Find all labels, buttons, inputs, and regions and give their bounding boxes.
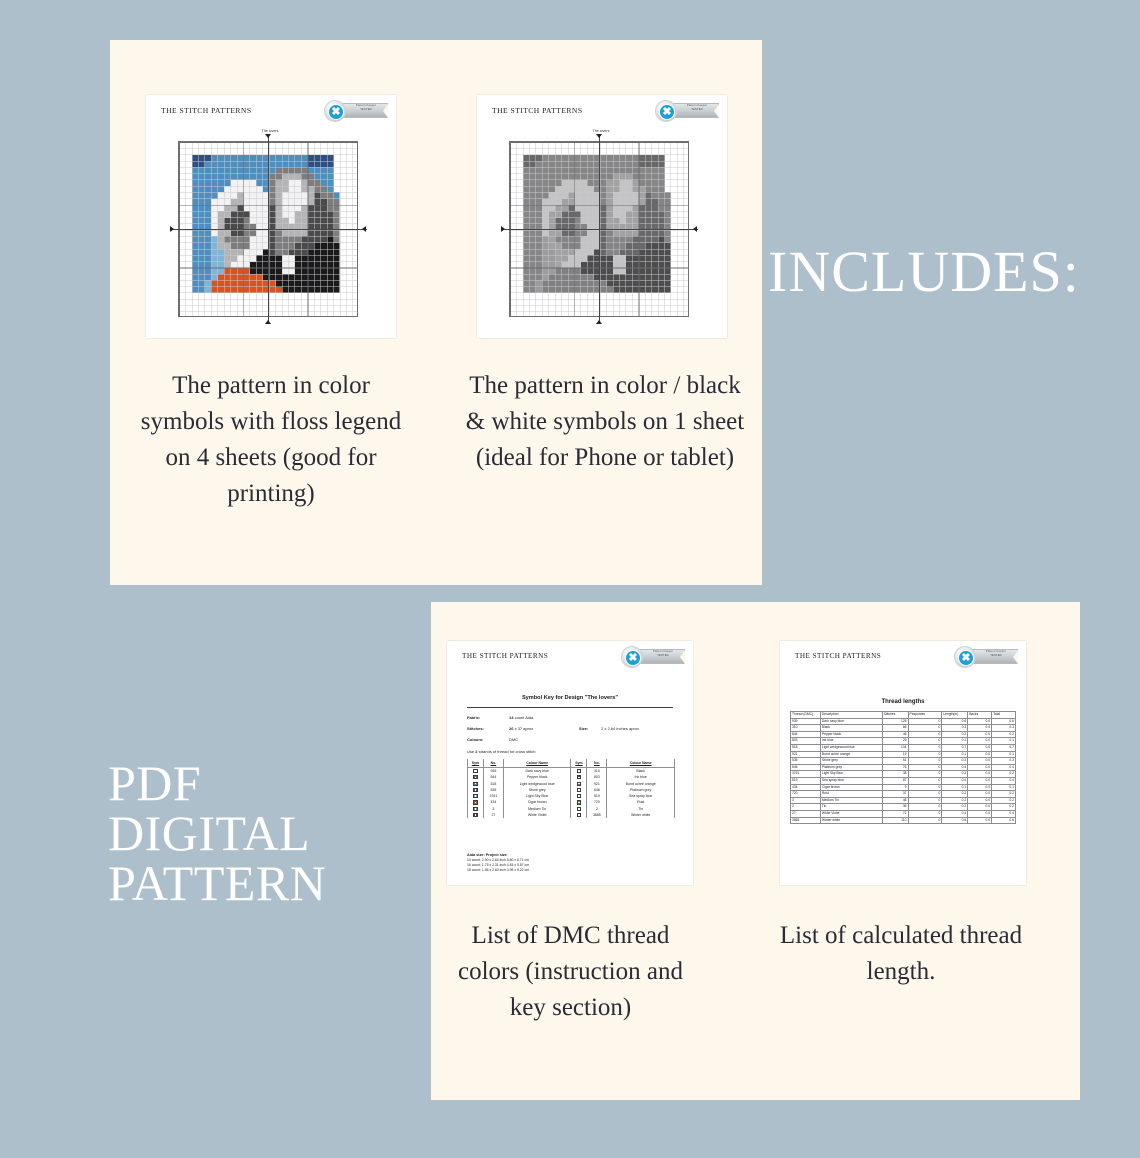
- thread-col-header: Thread (DMC): [791, 712, 821, 719]
- cross-stitch-icon: ✖: [958, 650, 974, 666]
- thread-cell: Burnt ochre orange: [820, 751, 882, 758]
- thread-header-row: Thread (DMC)DescriptionStitchesPespuntes…: [791, 712, 1016, 719]
- spec-row: Stitches:26 x 37 aproxSize:2 x 2.64 inch…: [467, 726, 677, 737]
- thread-cell: 0.0: [968, 791, 992, 798]
- legend-symbol-swatch: [571, 768, 587, 775]
- legend-cell: 310: [587, 768, 607, 775]
- center-line-vertical: [599, 136, 600, 324]
- thread-cell: 0.6: [942, 817, 968, 824]
- thread-cell: 0.0: [968, 738, 992, 745]
- headline-pdf-digital-pattern: PDF DIGITAL PATTERN: [108, 758, 326, 908]
- chart-bw[interactable]: The lovers: [501, 137, 701, 322]
- thread-cell: 76: [882, 764, 908, 771]
- legend-cell: White Violet: [503, 812, 571, 818]
- badge-seal: ✖: [655, 100, 677, 122]
- thread-cell: 0: [908, 725, 942, 732]
- thread-cell: 0.0: [968, 744, 992, 751]
- legend-symbol-swatch: [468, 768, 484, 775]
- sheet-header: THE STITCH PATTERNS Pattern Keeper TESTE…: [146, 95, 396, 127]
- aida-size-lines: 14 count: 2.00 x 2.64 inch 5.80 x 6.71 c…: [467, 858, 529, 873]
- thread-col-header: Length(m): [942, 712, 968, 719]
- sheet-header: THE STITCH PATTERNS Pattern Keeper TESTE…: [477, 95, 727, 127]
- thread-cell: 0: [908, 731, 942, 738]
- thread-cell: 0: [908, 817, 942, 824]
- thread-cell: 0: [908, 797, 942, 804]
- legend-row: 27White Violet3865Winter white: [468, 812, 675, 818]
- symbol-key-sheet[interactable]: THE STITCH PATTERNS Pattern Keeper TESTE…: [447, 641, 693, 885]
- thread-cell: 3865: [791, 817, 821, 824]
- thread-cell: 0.2: [992, 804, 1016, 811]
- spec-row: Colours:DMC: [467, 737, 677, 748]
- thread-row: 310Black6600.30.00.3: [791, 725, 1016, 732]
- thread-cell: 0.3: [992, 758, 1016, 765]
- spec-value: 14 count Aida: [509, 715, 533, 720]
- thread-cell: 720: [791, 791, 821, 798]
- chart-title: The lovers: [170, 129, 370, 133]
- sheet-title: THE STITCH PATTERNS: [795, 652, 881, 660]
- legend-symbol-swatch: [468, 812, 484, 818]
- thread-cell: 2: [791, 804, 821, 811]
- thread-cell: Light Sky Blue: [820, 771, 882, 778]
- thread-row: 518Light wedgewood blue13100.70.00.7: [791, 744, 1016, 751]
- thread-cell: 0: [908, 791, 942, 798]
- headline-pdf-line1: PDF: [108, 758, 326, 808]
- chart-color[interactable]: The lovers: [170, 137, 370, 322]
- pattern-sheet-bw[interactable]: THE STITCH PATTERNS Pattern Keeper TESTE…: [477, 95, 727, 338]
- thread-cell: 0: [908, 718, 942, 725]
- thread-row: 27White Violet7200.40.00.4: [791, 810, 1016, 817]
- badge-seal: ✖: [621, 646, 643, 668]
- caption-dmc-list: List of DMC thread colors (instruction a…: [448, 918, 693, 1026]
- thread-cell: 0.1: [942, 784, 968, 791]
- thread-cell: 9: [882, 784, 908, 791]
- thread-lengths-sheet[interactable]: THE STITCH PATTERNS Pattern Keeper TESTE…: [780, 641, 1026, 885]
- thread-cell: 0.4: [942, 810, 968, 817]
- thread-cell: Stone grey: [820, 758, 882, 765]
- spec-label: Colours:: [467, 737, 483, 742]
- legend-body: 939Dark navy blue310Black844Pepper black…: [468, 768, 675, 819]
- thread-cell: 0.1: [992, 738, 1016, 745]
- thread-cell: 921: [791, 751, 821, 758]
- badge-ribbon-text: Pattern Keeper TESTED: [346, 104, 386, 112]
- badge-ribbon-text: Pattern Keeper TESTED: [976, 650, 1016, 658]
- thread-cell: 87: [882, 777, 908, 784]
- thread-cell: 0.4: [942, 777, 968, 784]
- thread-cell: 0.2: [942, 771, 968, 778]
- thread-cell: 0: [908, 804, 942, 811]
- badge-ribbon-line2: TESTED: [976, 654, 1016, 658]
- thread-row: 3865Winter white11000.60.00.6: [791, 817, 1016, 824]
- thread-cell: 0: [908, 764, 942, 771]
- thread-lengths-table: Thread (DMC)DescriptionStitchesPespuntes…: [790, 711, 1016, 824]
- thread-cell: 66: [882, 725, 908, 732]
- cross-stitch-icon: ✖: [659, 104, 675, 120]
- thread-cell: 310: [791, 725, 821, 732]
- thread-cell: 3: [791, 797, 821, 804]
- thread-cell: Tin: [820, 804, 882, 811]
- headline-pdf-line2: DIGITAL: [108, 808, 326, 858]
- badge-seal: ✖: [954, 646, 976, 668]
- center-marker-top-icon: [265, 134, 271, 138]
- thread-cell: 0.1: [992, 784, 1016, 791]
- thread-cell: 36: [882, 804, 908, 811]
- divider: [467, 707, 673, 708]
- thread-col-header: Total: [992, 712, 1016, 719]
- thread-cell: 0.0: [968, 817, 992, 824]
- thread-cell: 519: [791, 777, 821, 784]
- thread-cell: 0.0: [968, 771, 992, 778]
- thread-cell: 110: [882, 817, 908, 824]
- legend-head: SymNo.Colour NameSymNo.Colour Name: [468, 759, 675, 768]
- badge-ribbon-text: Pattern Keeper TESTED: [677, 104, 717, 112]
- thread-cell: 0.0: [968, 758, 992, 765]
- legend-cell: Winter white: [607, 812, 675, 818]
- thread-cell: 0.1: [942, 751, 968, 758]
- thread-cell: 0.1: [992, 751, 1016, 758]
- floss-legend-table: SymNo.Colour NameSymNo.Colour Name 939Da…: [467, 759, 675, 818]
- thread-cell: 27: [791, 810, 821, 817]
- thread-cell: 0.3: [942, 758, 968, 765]
- thread-cell: 48: [882, 797, 908, 804]
- thread-cell: 51: [882, 758, 908, 765]
- legend-row: 939Dark navy blue310Black: [468, 768, 675, 775]
- pattern-keeper-badge: Pattern Keeper TESTED ✖: [621, 646, 685, 668]
- sheet-title: THE STITCH PATTERNS: [492, 106, 583, 115]
- thread-cell: 0.2: [992, 731, 1016, 738]
- thread-row: 535Stone grey5100.30.00.3: [791, 758, 1016, 765]
- symbol-key-title: Symbol Key for Design "The lovers": [447, 695, 693, 701]
- legend-col-header: No.: [587, 759, 607, 768]
- legend-cell: 27: [483, 812, 503, 818]
- chart-grid: [509, 141, 689, 317]
- center-marker-bottom-icon: [596, 320, 602, 324]
- thread-cell: 0.7: [942, 744, 968, 751]
- spec-value: 26 x 37 aprox: [509, 726, 533, 731]
- spec-label-2: Size:: [579, 726, 588, 731]
- thread-cell: 0.1: [942, 738, 968, 745]
- thread-cell: 646: [791, 764, 821, 771]
- center-marker-left-icon: [170, 226, 174, 232]
- thread-cell: 72: [882, 810, 908, 817]
- thread-cell: 0.2: [942, 804, 968, 811]
- pattern-keeper-badge: Pattern Keeper TESTED ✖: [655, 100, 719, 122]
- thread-cell: 0.2: [942, 731, 968, 738]
- badge-ribbon-text: Pattern Keeper TESTED: [643, 650, 683, 658]
- thread-cell: 0.0: [968, 731, 992, 738]
- thread-cell: 434: [791, 784, 821, 791]
- thread-cell: Dark navy blue: [820, 718, 882, 725]
- spec-row: Fabric:14 count Aida: [467, 715, 677, 726]
- legend-col-header: No.: [483, 759, 503, 768]
- thread-cell: 0.2: [992, 771, 1016, 778]
- caption-color-pattern: The pattern in color symbols with floss …: [136, 368, 406, 512]
- badge-seal: ✖: [324, 100, 346, 122]
- thread-row: 519Sea spray blue8700.40.00.4: [791, 777, 1016, 784]
- thread-col-header: Pespuntes: [908, 712, 942, 719]
- thread-cell: 0.3: [942, 725, 968, 732]
- spec-label: Stitches:: [467, 726, 484, 731]
- cross-stitch-icon: ✖: [328, 104, 344, 120]
- thread-cell: 0.2: [942, 797, 968, 804]
- thread-row: 2Tin3600.20.00.2: [791, 804, 1016, 811]
- center-marker-bottom-icon: [265, 320, 271, 324]
- legend-cell: 3865: [587, 812, 607, 818]
- legend-cell: Dark navy blue: [503, 768, 571, 775]
- strands-note-pre: Use: [467, 749, 475, 754]
- thread-cell: 125: [882, 718, 908, 725]
- thread-cell: 0: [908, 744, 942, 751]
- pattern-sheet-color[interactable]: THE STITCH PATTERNS Pattern Keeper TESTE…: [146, 95, 396, 338]
- sheet-header: THE STITCH PATTERNS Pattern Keeper TESTE…: [780, 641, 1026, 673]
- badge-ribbon-line2: TESTED: [643, 654, 683, 658]
- thread-row: 921Burnt ochre orange1900.10.00.1: [791, 751, 1016, 758]
- thread-cell: Medium Tin: [820, 797, 882, 804]
- chart-title: The lovers: [501, 129, 701, 133]
- thread-cell: Ink blue: [820, 738, 882, 745]
- center-marker-top-icon: [596, 134, 602, 138]
- thread-cell: Black: [820, 725, 882, 732]
- legend-cell: Black: [607, 768, 675, 775]
- thread-cell: 0.6: [942, 718, 968, 725]
- thread-cell: Winter white: [820, 817, 882, 824]
- thread-cell: 535: [791, 758, 821, 765]
- thread-cell: 0.0: [968, 725, 992, 732]
- strands-note: Use 2 strands of thread for cross stitch: [467, 749, 536, 754]
- thread-table-head: Thread (DMC)DescriptionStitchesPespuntes…: [791, 712, 1016, 719]
- center-line-vertical: [268, 136, 269, 324]
- pattern-keeper-badge: Pattern Keeper TESTED ✖: [324, 100, 388, 122]
- thread-row: 720Rust3700.20.00.2: [791, 791, 1016, 798]
- thread-cell: Sea spray blue: [820, 777, 882, 784]
- badge-ribbon-line2: TESTED: [677, 108, 717, 112]
- thread-cell: 0: [908, 810, 942, 817]
- thread-cell: 0: [908, 771, 942, 778]
- thread-cell: 0.0: [968, 751, 992, 758]
- thread-cell: 0.2: [992, 791, 1016, 798]
- thread-row: 844Pepper black4600.20.00.2: [791, 731, 1016, 738]
- spec-value-2: 2 x 2.64 inches aprox: [601, 726, 639, 731]
- thread-row: 3Medium Tin4800.20.00.2: [791, 797, 1016, 804]
- thread-cell: 3761: [791, 771, 821, 778]
- thread-cell: Pepper black: [820, 731, 882, 738]
- legend-col-header: Sym: [571, 759, 587, 768]
- thread-cell: 0: [908, 784, 942, 791]
- thread-table-body: 939Dark navy blue12500.60.00.6310Black66…: [791, 718, 1016, 824]
- pattern-keeper-badge: Pattern Keeper TESTED ✖: [954, 646, 1018, 668]
- sheet-header: THE STITCH PATTERNS Pattern Keeper TESTE…: [447, 641, 693, 673]
- center-marker-left-icon: [501, 226, 505, 232]
- cross-stitch-icon: ✖: [625, 650, 641, 666]
- thread-cell: 803: [791, 738, 821, 745]
- thread-cell: 0.4: [992, 777, 1016, 784]
- headline-pdf-line3: PATTERN: [108, 858, 326, 908]
- thread-row: 803Ink blue2900.10.00.1: [791, 738, 1016, 745]
- thread-cell: 0: [908, 758, 942, 765]
- thread-cell: 518: [791, 744, 821, 751]
- thread-cell: 46: [882, 731, 908, 738]
- thread-cell: 38: [882, 771, 908, 778]
- center-line-horizontal: [171, 229, 367, 230]
- legend-cell: 939: [483, 768, 503, 775]
- center-marker-right-icon: [362, 226, 366, 232]
- thread-cell: 0.0: [968, 777, 992, 784]
- thread-col-header: Description: [820, 712, 882, 719]
- chart-grid: [178, 141, 358, 317]
- sheet-title: THE STITCH PATTERNS: [462, 652, 548, 660]
- thread-col-header: Backs: [968, 712, 992, 719]
- thread-cell: 0: [908, 751, 942, 758]
- legend-col-header: Colour Name: [607, 759, 675, 768]
- center-marker-right-icon: [693, 226, 697, 232]
- thread-cell: 29: [882, 738, 908, 745]
- thread-cell: Cigar brown: [820, 784, 882, 791]
- thread-cell: 0.0: [968, 718, 992, 725]
- thread-col-header: Stitches: [882, 712, 908, 719]
- thread-cell: 0.0: [968, 784, 992, 791]
- thread-cell: 0.4: [992, 764, 1016, 771]
- legend-col-header: Colour Name: [503, 759, 571, 768]
- aida-size-footer: Aida size: Project size 14 count: 2.00 x…: [467, 853, 529, 873]
- thread-cell: 0: [908, 777, 942, 784]
- strands-note-post: strands of thread for cross stitch: [477, 749, 535, 754]
- thread-cell: 0.0: [968, 797, 992, 804]
- thread-cell: 0.3: [992, 725, 1016, 732]
- thread-cell: 0.6: [992, 718, 1016, 725]
- thread-cell: 0.4: [992, 810, 1016, 817]
- spec-label: Fabric:: [467, 715, 480, 720]
- poster-canvas: THE STITCH PATTERNS Pattern Keeper TESTE…: [0, 0, 1140, 1158]
- legend-header-row: SymNo.Colour NameSymNo.Colour Name: [468, 759, 675, 768]
- thread-cell: 0.4: [942, 764, 968, 771]
- thread-cell: 844: [791, 731, 821, 738]
- legend-symbol-swatch: [571, 812, 587, 818]
- aida-size-line: 18 count: 1.56 x 2.60 inch 3.95 x 5.22 c…: [467, 868, 529, 873]
- thread-row: 939Dark navy blue12500.60.00.6: [791, 718, 1016, 725]
- thread-cell: White Violet: [820, 810, 882, 817]
- headline-includes: INCLUDES:: [768, 238, 1080, 305]
- thread-row: 646Platinum grey7600.40.00.4: [791, 764, 1016, 771]
- thread-cell: 19: [882, 751, 908, 758]
- thread-row: 3761Light Sky Blue3800.20.00.2: [791, 771, 1016, 778]
- thread-cell: 0.0: [968, 764, 992, 771]
- thread-cell: 0.2: [992, 797, 1016, 804]
- thread-cell: 0.0: [968, 810, 992, 817]
- thread-cell: 0.0: [968, 804, 992, 811]
- caption-thread-length: List of calculated thread length.: [770, 918, 1032, 990]
- thread-cell: 131: [882, 744, 908, 751]
- thread-cell: Light wedgewood blue: [820, 744, 882, 751]
- thread-cell: Rust: [820, 791, 882, 798]
- caption-bw-pattern: The pattern in color / black & white sym…: [464, 368, 746, 476]
- thread-lengths-title: Thread lengths: [780, 699, 1026, 705]
- thread-cell: 939: [791, 718, 821, 725]
- thread-row: 434Cigar brown900.10.00.1: [791, 784, 1016, 791]
- thread-cell: Platinum grey: [820, 764, 882, 771]
- thread-cell: 0.6: [992, 817, 1016, 824]
- sheet-title: THE STITCH PATTERNS: [161, 106, 252, 115]
- aida-size-heading: Aida size: Project size: [467, 853, 507, 857]
- legend-col-header: Sym: [468, 759, 484, 768]
- thread-cell: 0.2: [942, 791, 968, 798]
- spec-value: DMC: [509, 737, 518, 742]
- center-line-horizontal: [502, 229, 698, 230]
- thread-cell: 37: [882, 791, 908, 798]
- thread-cell: 0.7: [992, 744, 1016, 751]
- badge-ribbon-line2: TESTED: [346, 108, 386, 112]
- thread-cell: 0: [908, 738, 942, 745]
- fabric-spec-list: Fabric:14 count AidaStitches:26 x 37 apr…: [467, 715, 677, 748]
